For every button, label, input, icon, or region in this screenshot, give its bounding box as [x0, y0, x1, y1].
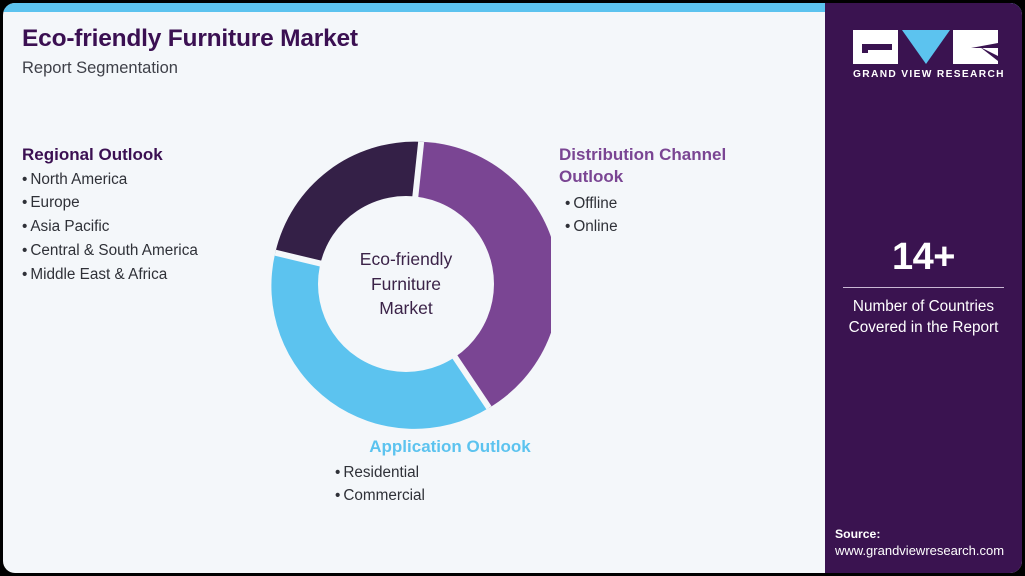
page-subtitle: Report Segmentation	[22, 59, 722, 79]
list-item-label: Middle East & Africa	[30, 266, 167, 283]
logo-marks	[853, 30, 998, 64]
stat-label-line-1: Number of Countries	[853, 298, 994, 315]
source-url[interactable]: www.grandviewresearch.com	[835, 542, 1020, 560]
application-outlook-list: •Residential •Commercial	[335, 461, 575, 508]
bullet-icon: •	[335, 461, 340, 485]
logo-r-icon	[953, 30, 998, 64]
infographic-card: Eco-friendly Furniture Market Report Seg…	[3, 3, 1022, 573]
list-item: •Residential	[335, 461, 575, 485]
list-item-label: Europe	[30, 194, 79, 211]
distribution-channel-outlook-list: •Offline •Online	[565, 192, 774, 239]
bullet-icon: •	[335, 484, 340, 508]
bullet-icon: •	[565, 192, 570, 216]
bullet-icon: •	[22, 168, 27, 192]
list-item: •Central & South America	[22, 239, 277, 263]
stat-label: Number of Countries Covered in the Repor…	[839, 297, 1008, 338]
list-item-label: Residential	[343, 464, 419, 481]
regional-outlook-heading: Regional Outlook	[22, 144, 277, 166]
grand-view-research-logo: GRAND VIEW RESEARCH	[853, 30, 998, 80]
list-item-label: Offline	[573, 195, 617, 212]
logo-g-icon	[853, 30, 898, 64]
list-item: •Europe	[22, 191, 277, 215]
donut-svg	[261, 139, 551, 429]
distribution-channel-outlook-block: Distribution Channel Outlook •Offline •O…	[559, 144, 774, 239]
list-item: •Commercial	[335, 484, 575, 508]
stat-divider	[843, 287, 1004, 288]
source-block: Source: www.grandviewresearch.com	[835, 526, 1020, 560]
donut-hole	[318, 196, 494, 372]
list-item: •Middle East & Africa	[22, 263, 277, 287]
application-outlook-heading: Application Outlook	[325, 436, 575, 458]
logo-wordmark: GRAND VIEW RESEARCH	[853, 69, 998, 80]
logo-v-triangle-icon	[902, 30, 950, 64]
segmentation-donut-chart: Eco-friendly Furniture Market	[261, 139, 551, 429]
list-item-label: Asia Pacific	[30, 218, 109, 235]
heading-line-1: Distribution Channel	[559, 145, 726, 164]
bullet-icon: •	[22, 215, 27, 239]
source-title: Source:	[835, 526, 1020, 542]
bullet-icon: •	[22, 239, 27, 263]
regional-outlook-block: Regional Outlook •North America •Europe …	[22, 144, 277, 286]
bullet-icon: •	[565, 215, 570, 239]
list-item-label: North America	[30, 171, 127, 188]
list-item-label: Central & South America	[30, 242, 198, 259]
list-item: •Asia Pacific	[22, 215, 277, 239]
bullet-icon: •	[22, 263, 27, 287]
distribution-channel-outlook-heading: Distribution Channel Outlook	[559, 144, 774, 188]
brand-sidebar: GRAND VIEW RESEARCH 14+ Number of Countr…	[825, 3, 1022, 573]
stat-label-line-2: Covered in the Report	[849, 319, 999, 336]
countries-stat-block: 14+ Number of Countries Covered in the R…	[839, 238, 1008, 338]
list-item-label: Commercial	[343, 487, 425, 504]
page-title: Eco-friendly Furniture Market	[22, 25, 722, 53]
list-item: •North America	[22, 168, 277, 192]
list-item: •Online	[565, 215, 774, 239]
stat-value: 14+	[839, 238, 1008, 276]
heading-line-2: Outlook	[559, 167, 623, 186]
list-item-label: Online	[573, 218, 617, 235]
header: Eco-friendly Furniture Market Report Seg…	[22, 25, 722, 79]
regional-outlook-list: •North America •Europe •Asia Pacific •Ce…	[22, 168, 277, 287]
infographic-frame: Eco-friendly Furniture Market Report Seg…	[0, 0, 1025, 576]
application-outlook-block: Application Outlook •Residential •Commer…	[325, 436, 575, 508]
list-item: •Offline	[565, 192, 774, 216]
bullet-icon: •	[22, 191, 27, 215]
